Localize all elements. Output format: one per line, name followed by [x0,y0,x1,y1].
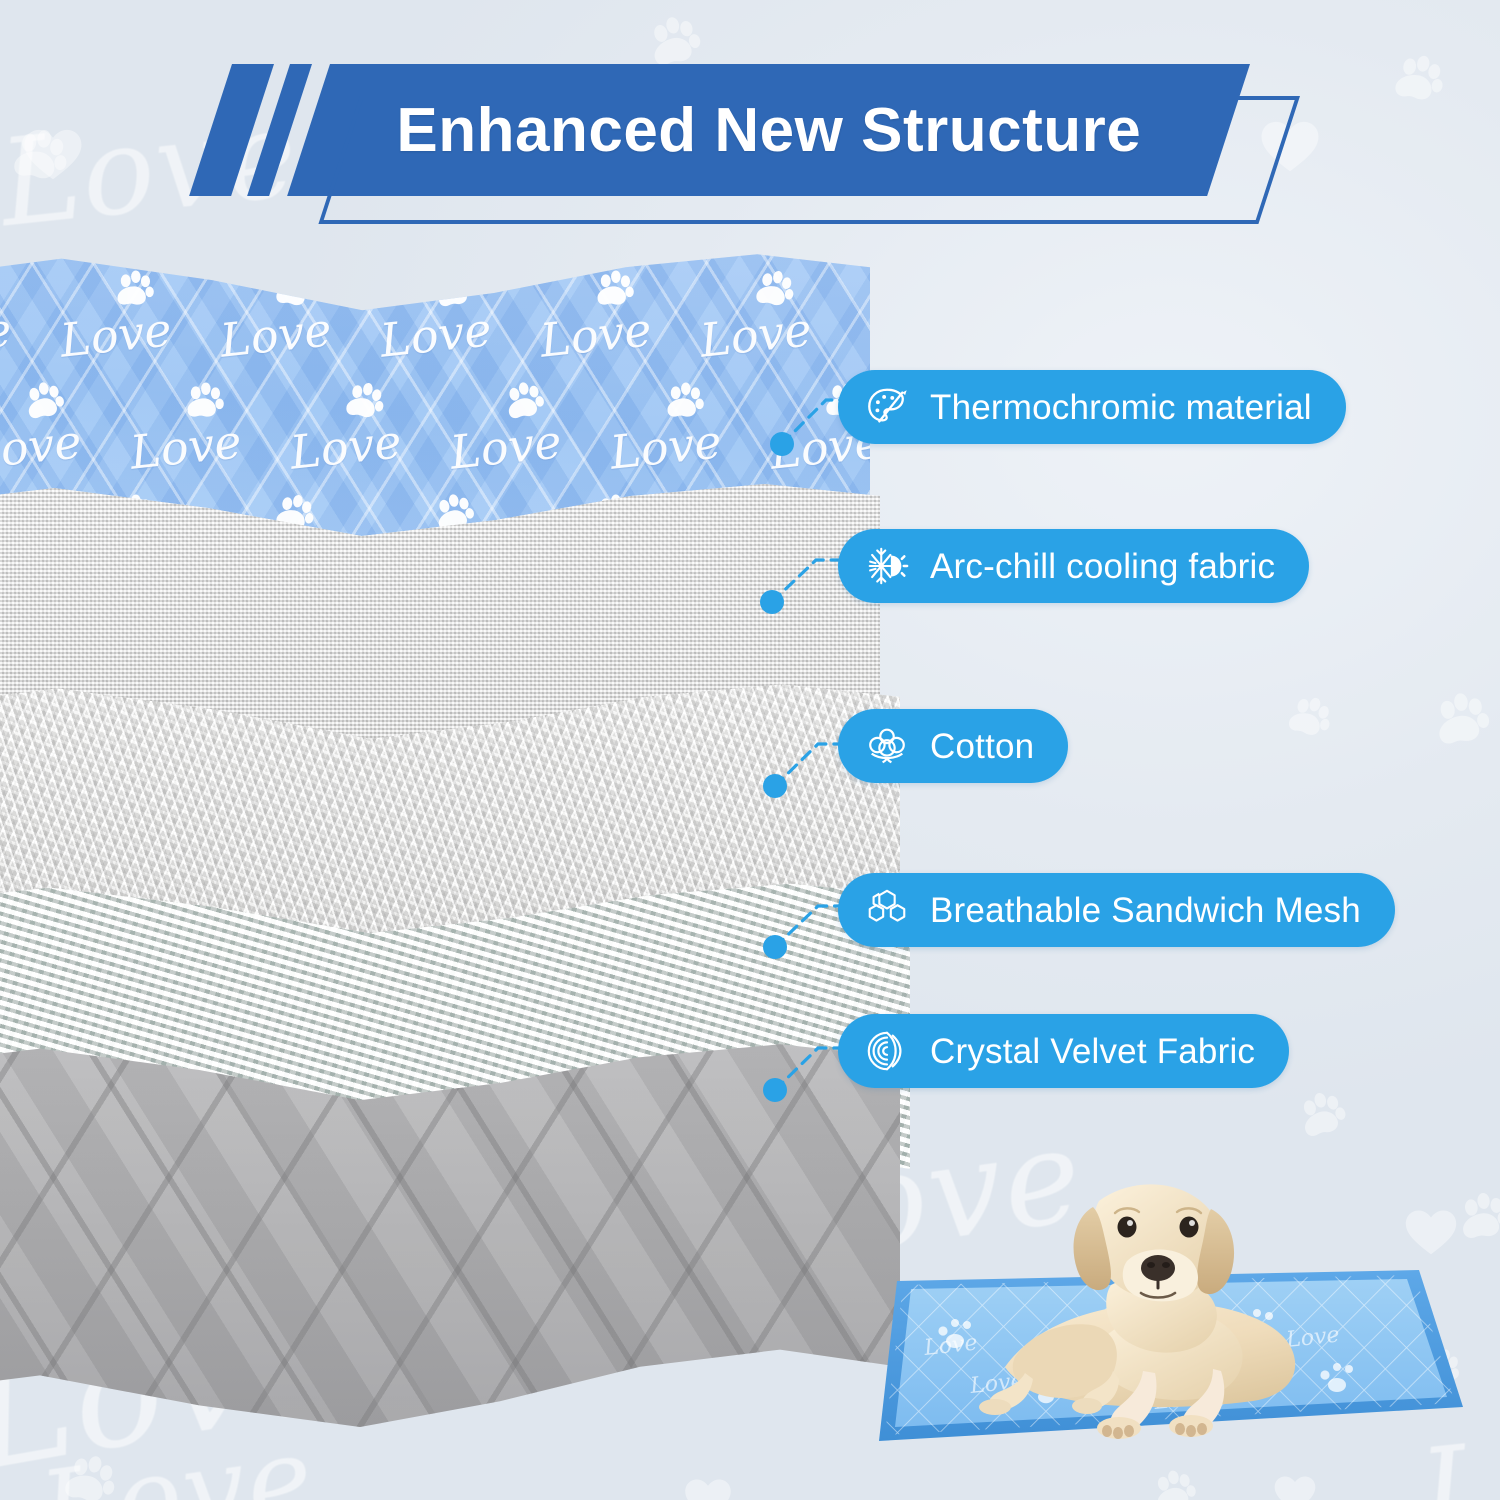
layer-edge [0,1454,900,1470]
callout-breathable-sandwich-mesh[interactable]: Breathable Sandwich Mesh [838,873,1395,947]
callout-label: Crystal Velvet Fabric [930,1034,1255,1069]
cotton-boll-icon [864,723,910,769]
layer-crystal-velvet-base [0,1040,900,1470]
infographic-canvas: LoveLoveLoveLoveLove Enhanced New Struct… [0,0,1500,1500]
page-title-text: Enhanced New Structure [396,95,1141,166]
callout-label: Thermochromic material [930,390,1312,425]
callout-thermochromic-material[interactable]: Thermochromic material [838,370,1346,444]
callout-arc-chill-cooling-fabric[interactable]: Arc-chill cooling fabric [838,529,1309,603]
velvet-swirl-icon [864,1028,910,1074]
honeycomb-hexagon-icon [864,887,910,933]
snowflake-sun-icon [864,543,910,589]
page-title: Enhanced New Structure [287,64,1250,196]
paint-palette-icon [864,384,910,430]
callout-cotton[interactable]: Cotton [838,709,1068,783]
callout-label: Breathable Sandwich Mesh [930,893,1361,928]
layer-surface [0,1040,900,1470]
puppy-on-cooling-mat-photo: Love Love Love Love [855,1135,1485,1495]
callout-crystal-velvet-fabric[interactable]: Crystal Velvet Fabric [838,1014,1289,1088]
callout-label: Arc-chill cooling fabric [930,549,1275,584]
callout-label: Cotton [930,729,1034,764]
